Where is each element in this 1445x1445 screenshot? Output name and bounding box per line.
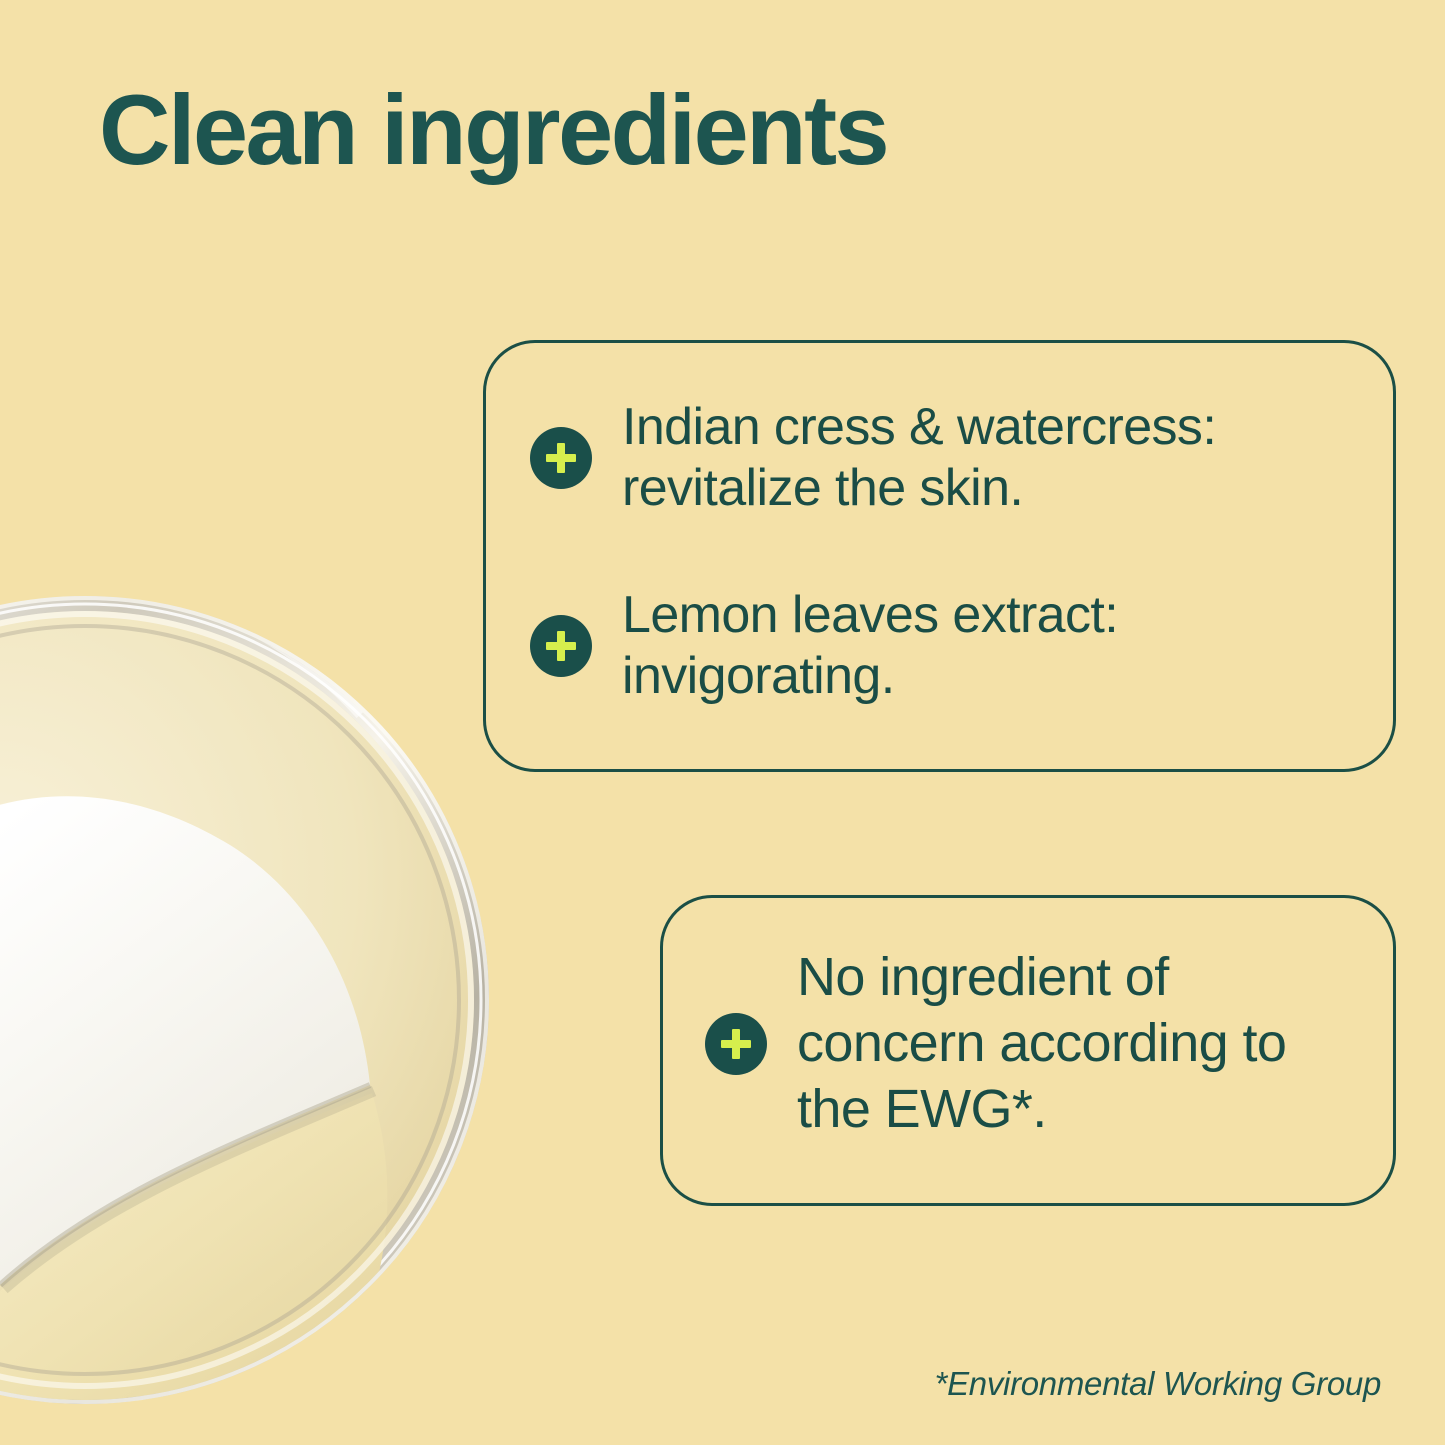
bullet-item-indian-cress: Indian cress & watercress: revitalize th… [530, 397, 1365, 520]
bullet-text: Lemon leaves extract: invigorating. [622, 585, 1365, 708]
card-ewg-claim: No ingredient of concern according to th… [660, 895, 1396, 1206]
page-title: Clean ingredients [99, 78, 887, 182]
bullet-text: No ingredient of concern according to th… [797, 945, 1365, 1143]
footnote-ewg-definition: *Environmental Working Group [935, 1365, 1381, 1403]
bullet-item-lemon-leaves: Lemon leaves extract: invigorating. [530, 585, 1365, 708]
bullet-item-no-ingredient-of-concern: No ingredient of concern according to th… [705, 945, 1365, 1143]
plus-badge-icon [705, 1013, 767, 1075]
card-clean-ingredients: Indian cress & watercress: revitalize th… [483, 340, 1396, 772]
bullet-text: Indian cress & watercress: revitalize th… [622, 397, 1365, 520]
hydrogel-eye-patch-dish-photo [0, 585, 500, 1415]
infographic-canvas: Clean ingredients Indian cress & watercr… [0, 0, 1445, 1445]
plus-badge-icon [530, 615, 592, 677]
plus-badge-icon [530, 427, 592, 489]
